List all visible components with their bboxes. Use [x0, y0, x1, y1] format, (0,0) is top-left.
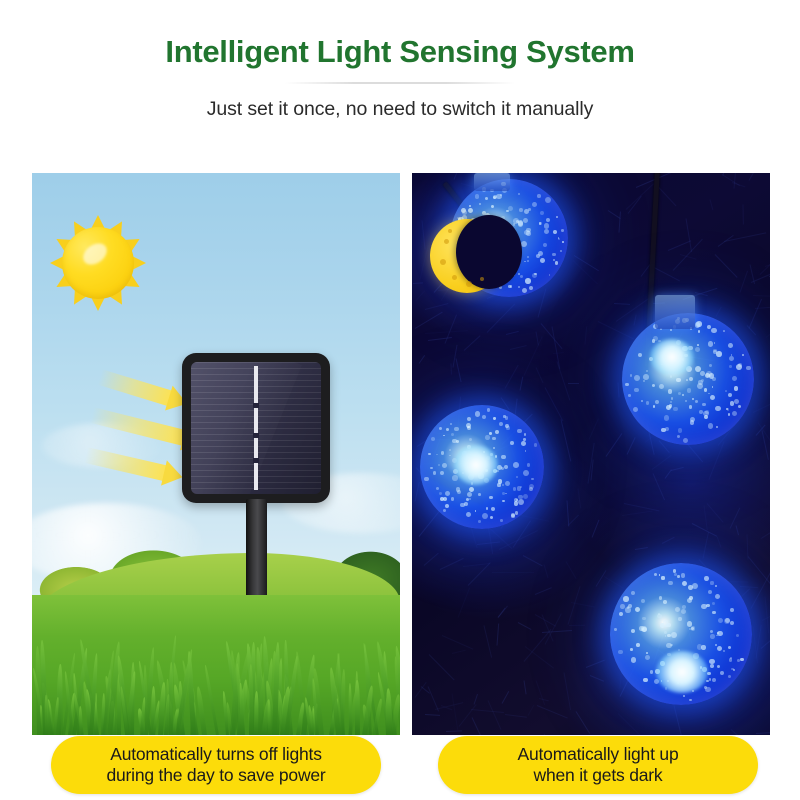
mesh-strand: [488, 700, 502, 730]
bulb-bubble: [460, 503, 464, 507]
bulb-bubble: [638, 353, 642, 357]
bulb-bubble: [728, 343, 733, 348]
busbar: [254, 366, 257, 490]
bulb-bubble: [518, 499, 524, 505]
moon-crater: [452, 275, 457, 280]
bulb-bubble: [489, 432, 492, 435]
mesh-strand: [556, 361, 570, 400]
bulb-bubble: [502, 500, 504, 502]
mesh-strand: [598, 321, 634, 339]
bulb-bubble: [724, 618, 730, 624]
mesh-strand: [502, 691, 510, 704]
bulb-bubble: [730, 621, 734, 625]
bulb-bubble: [527, 256, 529, 258]
bulb-bubble: [715, 585, 717, 587]
bulb-bubble: [652, 384, 656, 388]
mesh-strand: [604, 576, 624, 589]
bulb-bubble: [646, 370, 648, 372]
bulb-bubble: [635, 607, 640, 612]
bulb-bubble: [469, 438, 472, 441]
bulb-bubble: [665, 624, 668, 627]
bulb-led-core: [650, 339, 694, 375]
bulb-bubble: [701, 645, 705, 649]
grass-blade: [59, 664, 63, 735]
bulb-bubble: [715, 594, 720, 599]
bulb-bubble: [695, 322, 701, 328]
mesh-strand: [619, 212, 621, 233]
bulb-bubble: [446, 428, 449, 431]
mesh-strand: [733, 173, 737, 189]
mesh-strand: [429, 655, 455, 681]
bulb-bubble: [732, 411, 737, 416]
mesh-strand: [659, 440, 670, 453]
bulb-bubble: [725, 390, 727, 392]
bulb-bubble: [712, 678, 716, 682]
mesh-strand: [520, 376, 524, 390]
bulb-bubble: [668, 389, 672, 393]
bulb-bubble: [502, 484, 504, 486]
bulb-bubble: [443, 435, 445, 437]
mesh-strand: [452, 650, 465, 654]
mesh-strand: [425, 330, 468, 334]
mesh-strand: [523, 555, 543, 566]
bulb-bubble: [445, 491, 451, 497]
bulb-bubble: [525, 450, 527, 452]
mesh-strand: [590, 675, 604, 682]
mesh-strand: [418, 355, 425, 364]
bulb-bubble: [711, 328, 716, 333]
bulb-bubble: [519, 208, 523, 212]
bulb-bubble: [634, 375, 640, 381]
globe-bulb-icon: [420, 405, 544, 529]
mesh-strand: [477, 541, 500, 545]
bulb-bubble: [728, 675, 731, 678]
mesh-strand: [634, 546, 647, 549]
bulb-bubble: [687, 388, 691, 392]
caption-night-line1: Automatically light up: [518, 744, 679, 765]
mesh-strand: [440, 558, 464, 570]
bulb-bubble: [742, 354, 744, 356]
bulb-bubble: [445, 504, 449, 508]
mesh-strand: [451, 693, 458, 729]
bulb-bubble: [704, 686, 707, 689]
bulb-bubble: [710, 581, 713, 584]
bulb-bubble: [475, 510, 477, 512]
grass-blade: [354, 680, 359, 735]
bulb-bubble: [469, 205, 471, 207]
bulb-bubble: [704, 388, 708, 392]
mesh-strand: [750, 570, 770, 608]
mesh-strand: [652, 473, 665, 500]
bulb-bubble: [715, 406, 721, 412]
bulb-bubble: [702, 403, 705, 406]
mesh-strand: [444, 314, 457, 343]
bulb-bubble: [452, 475, 457, 480]
bulb-bubble: [733, 669, 735, 671]
mesh-strand: [523, 336, 542, 376]
bulb-bubble: [677, 435, 680, 438]
mesh-strand: [703, 532, 709, 559]
bulb-bubble: [500, 519, 503, 522]
bulb-bubble: [664, 415, 670, 421]
bulb-bubble: [518, 286, 520, 288]
bulb-bubble: [482, 415, 486, 419]
mesh-strand: [624, 503, 660, 511]
mesh-strand: [454, 173, 469, 180]
bulb-bubble: [466, 512, 471, 517]
mesh-strand: [626, 438, 635, 455]
bulb-bubble: [728, 413, 731, 416]
bulb-bubble: [619, 612, 623, 616]
mesh-strand: [668, 240, 692, 251]
bulb-bubble: [558, 238, 560, 240]
mesh-strand: [460, 183, 472, 187]
bulb-bubble: [451, 433, 454, 436]
bulb-bubble: [717, 665, 720, 668]
bulb-bubble: [510, 285, 512, 287]
mesh-strand: [416, 291, 426, 302]
bulb-bubble: [440, 471, 445, 476]
bulb-bubble: [689, 377, 693, 381]
daytime-solar-panel-photo: [32, 173, 400, 735]
bulb-bubble: [523, 470, 529, 476]
bulb-bubble: [498, 479, 503, 484]
mesh-strand: [492, 572, 534, 573]
bulb-bubble: [486, 507, 489, 510]
bulb-bubble: [723, 330, 725, 332]
bulb-bubble: [478, 493, 481, 496]
bulb-led-core: [454, 445, 498, 485]
bulb-bubble: [685, 400, 687, 402]
bulb-bubble: [630, 374, 633, 377]
bulb-bubble: [493, 447, 495, 449]
bulb-bubble: [709, 659, 714, 664]
bulb-bubble: [678, 428, 683, 433]
bulb-bubble: [708, 341, 713, 346]
bulb-bubble: [523, 494, 528, 499]
bulb-bubble: [540, 258, 545, 263]
bulb-bubble: [730, 608, 734, 612]
bulb-bubble: [704, 576, 709, 581]
bulb-bubble: [439, 492, 442, 495]
bulb-bubble: [642, 617, 646, 621]
bulb-bubble: [736, 634, 739, 637]
bulb-bubble: [443, 497, 447, 501]
mesh-strand: [499, 530, 538, 550]
bulb-bubble: [506, 426, 509, 429]
bulb-bubble: [663, 600, 667, 604]
caption-badges: Automatically turns off lights during th…: [0, 736, 800, 800]
mesh-strand: [685, 218, 692, 252]
bulb-bubble: [464, 502, 468, 506]
bulb-bubble: [532, 273, 537, 278]
bulb-bubble: [643, 678, 648, 683]
bulb-bubble: [710, 395, 715, 400]
mesh-strand: [749, 173, 759, 181]
mesh-strand: [652, 454, 672, 469]
mesh-strand: [518, 622, 531, 630]
mesh-strand: [458, 588, 471, 618]
bulb-socket: [474, 173, 510, 191]
bulb-bubble: [469, 498, 471, 500]
mesh-strand: [657, 185, 677, 206]
bulb-bubble: [718, 618, 723, 623]
bulb-bubble: [451, 497, 454, 500]
caption-day-line1: Automatically turns off lights: [106, 744, 325, 765]
bulb-bubble: [671, 397, 673, 399]
bulb-bubble: [561, 229, 564, 232]
bulb-bubble: [714, 342, 716, 344]
bulb-bubble: [683, 438, 688, 443]
bulb-bubble: [439, 427, 442, 430]
bulb-bubble: [736, 364, 742, 370]
mesh-strand: [490, 528, 513, 549]
bulb-bubble: [501, 455, 506, 460]
bulb-bubble: [513, 462, 519, 468]
bulb-bubble: [525, 278, 530, 283]
grass-blade: [254, 691, 259, 735]
bulb-bubble: [641, 400, 643, 402]
bulb-bubble: [506, 210, 508, 212]
bulb-bubble: [443, 509, 446, 512]
bulb-bubble: [493, 196, 496, 199]
bulb-bubble: [689, 699, 692, 702]
bulb-bubble: [675, 607, 680, 612]
bulb-bubble: [695, 400, 699, 404]
mesh-strand: [585, 327, 588, 345]
bulb-bubble: [674, 573, 677, 576]
mesh-strand: [709, 199, 713, 210]
mesh-strand: [538, 289, 547, 318]
mesh-strand: [617, 382, 619, 397]
mesh-strand: [564, 672, 572, 710]
bulb-bubble: [529, 286, 533, 290]
mesh-strand: [759, 246, 770, 275]
bulb-bubble: [516, 476, 518, 478]
bulb-bubble: [661, 428, 666, 433]
busbar-notch: [253, 403, 259, 408]
mesh-strand: [592, 520, 600, 538]
mesh-strand: [753, 295, 770, 297]
grass-blade: [44, 695, 47, 735]
bulb-bubble: [659, 596, 662, 599]
bulb-bubble: [655, 400, 659, 404]
bulb-bubble: [540, 211, 544, 215]
mesh-strand: [654, 267, 680, 281]
bulb-bubble: [659, 384, 664, 389]
bulb-bubble: [508, 206, 514, 212]
bulb-bubble: [690, 417, 695, 422]
bulb-bubble: [727, 408, 730, 411]
mesh-strand: [766, 322, 770, 338]
bulb-bubble: [552, 253, 555, 256]
moon-crater: [466, 281, 472, 287]
bulb-bubble: [653, 405, 656, 408]
bulb-bubble: [641, 626, 647, 632]
bulb-bubble: [511, 513, 516, 518]
mesh-strand: [566, 561, 577, 579]
bulb-speckles: [622, 313, 754, 445]
bulb-bubble: [513, 223, 515, 225]
bulb-bubble: [695, 366, 701, 372]
nighttime-glowing-bulbs-photo: [412, 173, 770, 735]
bulb-bubble: [712, 611, 716, 615]
mesh-strand: [425, 714, 440, 716]
mesh-strand: [424, 553, 439, 566]
bulb-bubble: [475, 194, 480, 199]
bulb-bubble: [716, 351, 721, 356]
bulb-bubble: [487, 408, 491, 412]
sun-ray-arrow-icon: [84, 447, 171, 482]
bulb-bubble: [706, 680, 709, 683]
bulb-bubble: [670, 401, 673, 404]
bulb-bubble: [436, 487, 439, 490]
bulb-bubble: [720, 671, 724, 675]
mesh-strand: [756, 732, 770, 735]
busbar-notch: [253, 433, 259, 438]
bulb-bubble: [710, 634, 715, 639]
mesh-strand: [769, 276, 770, 281]
bulb-bubble: [661, 576, 664, 579]
bulb-bubble: [428, 453, 431, 456]
busbar-notch: [253, 458, 259, 463]
mesh-strand: [764, 596, 769, 633]
bulb-bubble: [524, 230, 530, 236]
bulb-bubble: [544, 229, 549, 234]
bulb-bubble: [491, 507, 495, 511]
mesh-strand: [707, 503, 724, 522]
bulb-bubble: [729, 356, 734, 361]
bulb-bubble: [717, 646, 722, 651]
bulb-bubble: [708, 393, 710, 395]
bulb-bubble: [717, 631, 723, 637]
mesh-strand: [747, 556, 770, 588]
bulb-bubble: [628, 394, 631, 397]
bulb-bubble: [513, 487, 516, 490]
bulb-bubble: [641, 599, 645, 603]
bulb-bubble: [659, 574, 661, 576]
mesh-strand: [420, 245, 429, 279]
bulb-bubble: [623, 596, 628, 601]
bulb-bubble: [708, 423, 714, 429]
moon-crater: [444, 239, 449, 244]
mesh-strand: [561, 420, 572, 462]
bulb-bubble: [499, 422, 504, 427]
bulb-bubble: [654, 573, 658, 577]
mesh-strand: [474, 694, 478, 705]
mesh-strand: [692, 523, 717, 536]
bulb-bubble: [553, 230, 557, 234]
bulb-bubble: [691, 627, 694, 630]
mesh-strand: [568, 515, 580, 526]
bulb-bubble: [646, 401, 649, 404]
bulb-bubble: [701, 604, 707, 610]
bulb-bubble: [630, 648, 633, 651]
bulb-bubble: [697, 644, 703, 650]
mesh-strand: [615, 297, 650, 322]
moon-crater: [448, 229, 452, 233]
bulb-bubble: [673, 569, 677, 573]
mesh-strand: [731, 729, 741, 735]
bulb-bubble: [673, 407, 677, 411]
mesh-strand: [622, 510, 653, 515]
bulb-bubble: [518, 495, 522, 499]
globe-bulb-icon: [610, 563, 752, 705]
mesh-strand: [535, 367, 543, 383]
bulb-bubble: [534, 443, 537, 446]
bulb-bubble: [518, 220, 524, 226]
bulb-bubble: [520, 486, 522, 488]
mesh-strand: [544, 734, 575, 735]
bulb-bubble: [746, 366, 751, 371]
bulb-bubble: [478, 520, 481, 523]
mesh-strand: [471, 709, 504, 713]
mesh-strand: [746, 326, 756, 336]
grass-blade: [204, 665, 219, 735]
bulb-bubble: [431, 437, 435, 441]
sun-icon: [50, 215, 146, 311]
bulb-bubble: [730, 657, 732, 659]
moon-crater: [440, 259, 446, 265]
bulb-bubble: [683, 695, 685, 697]
mesh-strand: [464, 335, 481, 350]
bulb-bubble: [475, 411, 481, 417]
caption-badge-night: Automatically light up when it gets dark: [438, 736, 758, 794]
grass-blade: [348, 683, 352, 735]
bulb-bubble: [618, 650, 622, 654]
mesh-strand: [506, 331, 518, 335]
solar-panel-icon: [182, 353, 330, 503]
bulb-bubble: [450, 423, 452, 425]
bulb-bubble: [669, 404, 672, 407]
bulb-bubble: [521, 241, 527, 247]
bulb-bubble: [527, 463, 531, 467]
bulb-bubble: [521, 441, 526, 446]
bulb-bubble: [560, 250, 562, 252]
mesh-strand: [568, 383, 579, 384]
crescent-moon-icon: [430, 219, 504, 293]
mesh-strand: [442, 635, 473, 650]
bulb-bubble: [614, 628, 617, 631]
bulb-bubble: [667, 623, 671, 627]
bulb-bubble: [503, 415, 505, 417]
bulb-bubble: [668, 581, 673, 586]
bulb-bubble: [479, 203, 481, 205]
bulb-bubble: [620, 604, 625, 609]
bulb-led-core: [656, 651, 708, 693]
sun-ray-arrow-icon: [98, 369, 177, 407]
mesh-strand: [761, 518, 770, 538]
bulb-bubble: [643, 380, 645, 382]
bulb-bubble: [636, 643, 640, 647]
bulb-bubble: [491, 205, 494, 208]
mesh-strand: [505, 714, 527, 718]
grass-blades: [32, 595, 400, 735]
bulb-bubble: [517, 429, 521, 433]
bulb-bubble: [710, 664, 714, 668]
bulb-bubble: [531, 478, 534, 481]
bulb-bubble: [527, 260, 529, 262]
bulb-bubble: [677, 575, 679, 577]
bulb-bubble: [734, 386, 739, 391]
bulb-bubble: [728, 393, 733, 398]
bulb-bubble: [631, 591, 635, 595]
bulb-bubble: [704, 415, 708, 419]
mesh-strand: [736, 526, 740, 536]
mesh-strand: [536, 680, 546, 705]
caption-day-line2: during the day to save power: [106, 765, 325, 786]
mesh-strand: [671, 467, 684, 471]
